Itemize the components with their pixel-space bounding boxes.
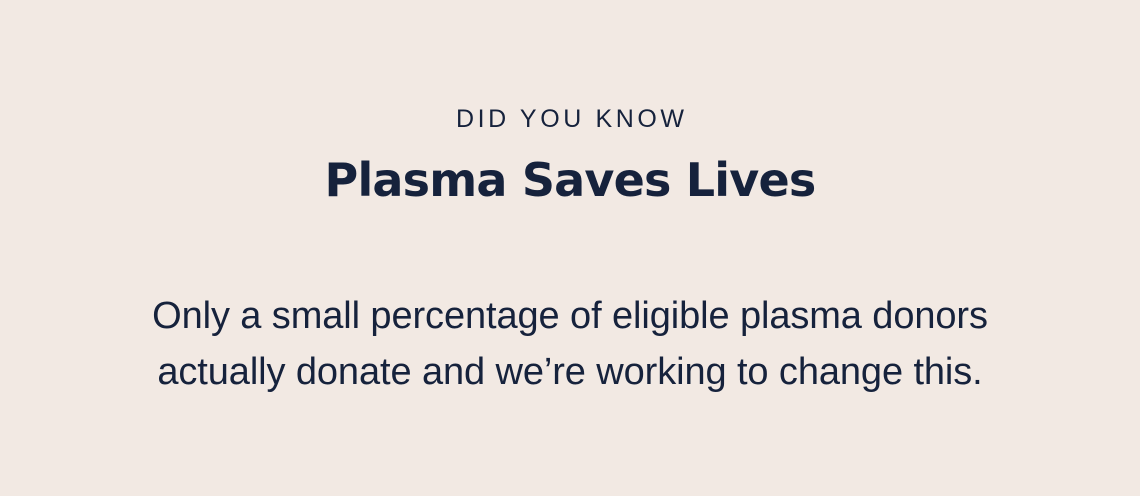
page-title: Plasma Saves Lives <box>0 152 1140 208</box>
eyebrow-label: DID YOU KNOW <box>0 104 1140 134</box>
body-copy: Only a small percentage of eligible plas… <box>90 288 1050 400</box>
body-copy-line: Only a small percentage of eligible plas… <box>90 288 1050 344</box>
body-copy-line: actually donate and we’re working to cha… <box>90 344 1050 400</box>
did-you-know-promo-panel: DID YOU KNOW Plasma Saves Lives Only a s… <box>0 0 1140 496</box>
